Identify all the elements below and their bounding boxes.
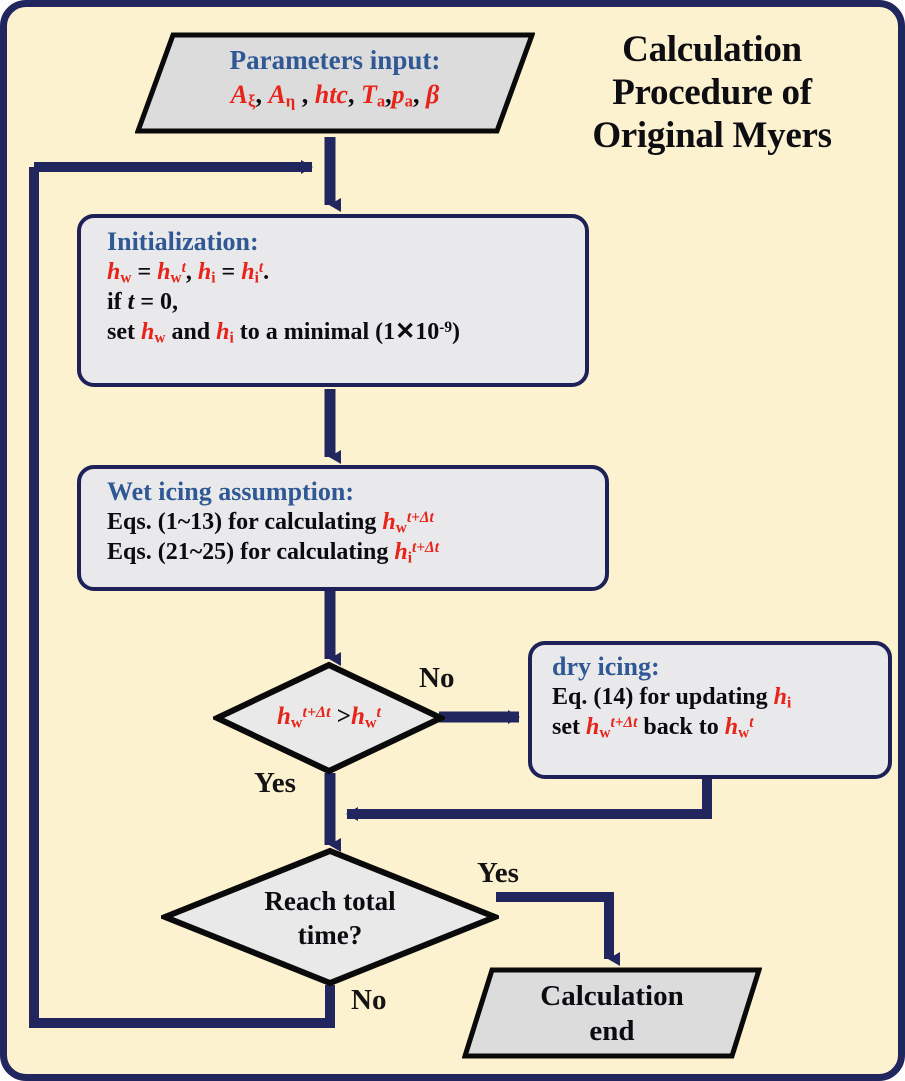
node-parameters-input[interactable]: Parameters input: Aξ, Aη , htc, Ta,pa, β	[135, 32, 535, 134]
flowchart-canvas: Calculation Procedure of Original Myers …	[0, 0, 905, 1081]
initialization-line-2: if t = 0,	[107, 288, 585, 318]
node-calculation-end[interactable]: Calculation end	[462, 967, 762, 1059]
dry-icing-line-1: Eq. (14) for updating hi	[552, 683, 888, 713]
title-line-2: Procedure of	[532, 72, 892, 115]
dry-icing-heading: dry icing:	[552, 651, 888, 683]
initialization-line-3: set hw and hi to a minimal (1✕10-9)	[107, 318, 585, 348]
title-line-3: Original Myers	[532, 115, 892, 158]
branch-label-decision-time-yes: Yes	[477, 857, 519, 890]
initialization-line-1: hw = hwt, hi = hit.	[107, 258, 585, 288]
title-line-1: Calculation	[532, 29, 892, 72]
parameters-input-title: Parameters input:	[135, 44, 535, 77]
branch-label-decision-hw-yes: Yes	[254, 767, 296, 800]
initialization-heading: Initialization:	[107, 226, 585, 258]
node-wet-icing[interactable]: Wet icing assumption: Eqs. (1~13) for ca…	[77, 465, 609, 591]
wet-icing-body: Wet icing assumption: Eqs. (1~13) for ca…	[107, 476, 605, 569]
wet-icing-heading: Wet icing assumption:	[107, 476, 605, 508]
edge-time-yes-to-end	[496, 897, 609, 959]
wet-icing-line-2: Eqs. (21~25) for calculating hit+Δt	[107, 538, 605, 568]
wet-icing-line-1: Eqs. (1~13) for calculating hwt+Δt	[107, 508, 605, 538]
dry-icing-body: dry icing: Eq. (14) for updating hi set …	[552, 651, 888, 744]
parameters-input-variables: Aξ, Aη , htc, Ta,pa, β	[135, 79, 535, 112]
calculation-end-line-2: end	[462, 1014, 762, 1049]
branch-label-decision-hw-no: No	[419, 662, 454, 695]
dry-icing-line-2: set hwt+Δt back to hwt	[552, 713, 888, 743]
calculation-end-line-1: Calculation	[462, 979, 762, 1014]
page-title: Calculation Procedure of Original Myers	[532, 29, 892, 158]
branch-label-decision-time-no: No	[351, 984, 386, 1017]
initialization-body: Initialization: hw = hwt, hi = hit. if t…	[107, 226, 585, 348]
node-dry-icing[interactable]: dry icing: Eq. (14) for updating hi set …	[528, 641, 892, 779]
node-initialization[interactable]: Initialization: hw = hwt, hi = hit. if t…	[77, 214, 589, 387]
edge-dry-to-trunk	[347, 779, 707, 814]
